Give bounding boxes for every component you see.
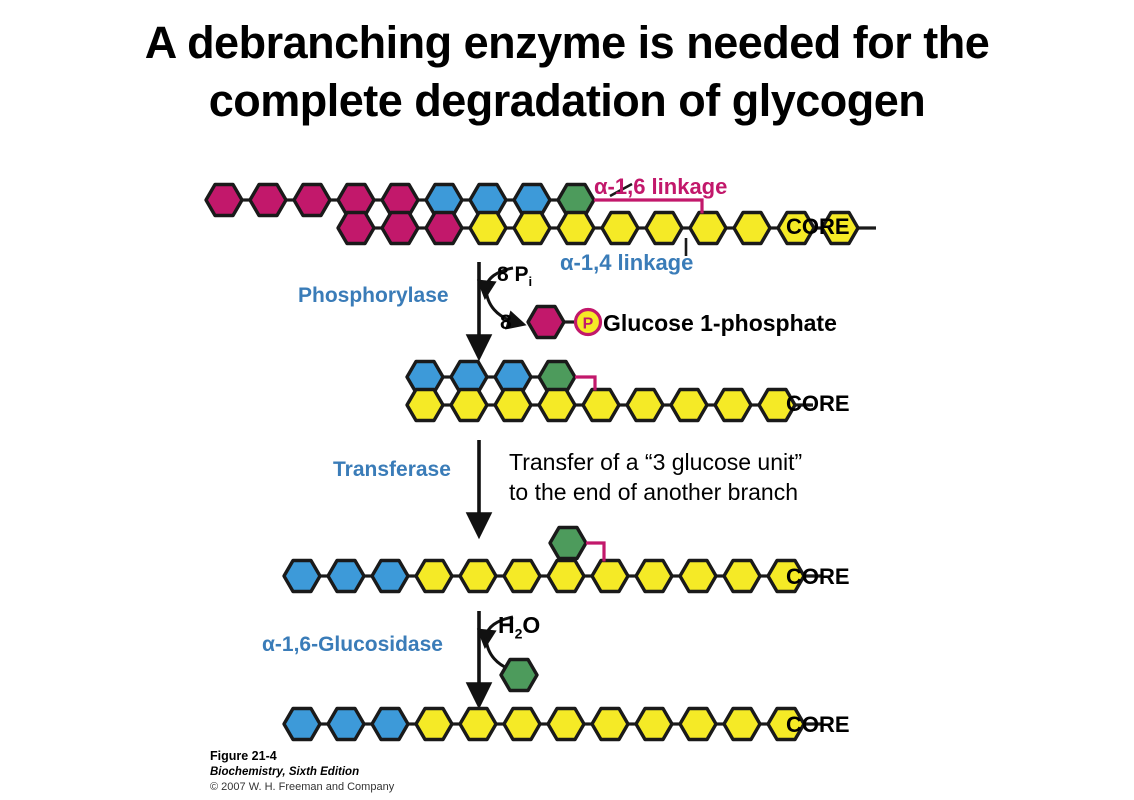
eight-pi-text: 8 P	[497, 263, 529, 286]
core-label-stage-4: CORE	[786, 712, 850, 738]
glucose-hexagon-blue-stage4-main-1	[328, 709, 364, 740]
transfer-note-line-2: to the end of another branch	[509, 479, 798, 506]
glucose-hexagon-yellow-stage3-main-3	[416, 561, 452, 592]
water-o: O	[522, 612, 540, 638]
enzyme-label-glucosidase: α-1,6-Glucosidase	[262, 633, 443, 657]
glucose-hexagon-magenta-g1p-residue	[528, 307, 564, 338]
glucose-hexagon-yellow-stage2-core-0	[407, 390, 443, 421]
glucose-hexagon-yellow-stage3-main-10	[724, 561, 760, 592]
glucose-hexagon-blue-stage3-main-1	[328, 561, 364, 592]
glucose-hexagon-yellow-stage3-main-6	[548, 561, 584, 592]
label-alpha-1-4-linkage: α-1,4 linkage	[560, 250, 693, 276]
glucose-hexagon-magenta-stage1-core-1	[382, 213, 418, 244]
glucose-hexagon-yellow-stage2-core-3	[539, 390, 575, 421]
copyright-notice: © 2007 W. H. Freeman and Company	[210, 780, 394, 795]
glucose-hexagon-yellow-stage2-core-4	[583, 390, 619, 421]
reactant-label-water: H2O	[498, 612, 540, 642]
core-label-stage-2: CORE	[786, 391, 850, 417]
glucose-hexagon-blue-stage3-main-2	[372, 561, 408, 592]
glucose-hexagon-yellow-stage1-core-7	[646, 213, 682, 244]
glycogen-pathway-diagram: P	[0, 0, 1134, 800]
glucose-hexagon-yellow-stage2-core-7	[715, 390, 751, 421]
glucose-hexagon-yellow-stage2-core-1	[451, 390, 487, 421]
glucose-hexagon-magenta-stage1-branch-1	[250, 185, 286, 216]
glucose-hexagon-yellow-stage2-core-5	[627, 390, 663, 421]
water-h: H	[498, 612, 515, 638]
phosphate-letter: P	[583, 316, 594, 333]
glucose-hexagon-magenta-stage1-branch-2	[294, 185, 330, 216]
figure-number: Figure 21-4	[210, 748, 394, 765]
figure-credit: Figure 21-4 Biochemistry, Sixth Edition …	[210, 748, 394, 794]
glucose-hexagon-blue-stage4-main-2	[372, 709, 408, 740]
glucose-hexagon-yellow-stage4-main-8	[636, 709, 672, 740]
transfer-note-line-1: Transfer of a “3 glucose unit”	[509, 449, 802, 476]
glucose-hexagon-yellow-stage1-core-4	[514, 213, 550, 244]
glucose-hexagon-yellow-stage3-main-4	[460, 561, 496, 592]
glucose-hexagon-blue-stage3-main-0	[284, 561, 320, 592]
product-count-8: 8	[500, 311, 512, 335]
product-label-glucose-1-phosphate: Glucose 1-phosphate	[603, 310, 837, 337]
glucose-hexagon-yellow-stage3-main-8	[636, 561, 672, 592]
reactant-label-8-pi: 8 Pi	[497, 263, 532, 289]
glucose-hexagon-yellow-stage4-main-6	[548, 709, 584, 740]
glucose-hexagon-blue-stage4-main-0	[284, 709, 320, 740]
glucose-hexagon-green-free-glucose-product	[501, 660, 537, 691]
glucose-hexagon-yellow-stage4-main-7	[592, 709, 628, 740]
glucose-hexagon-yellow-stage3-main-5	[504, 561, 540, 592]
glucose-hexagon-yellow-stage1-core-8	[690, 213, 726, 244]
pi-subscript: i	[529, 274, 533, 289]
enzyme-label-transferase: Transferase	[333, 458, 451, 482]
slide-canvas: A debranching enzyme is needed for the c…	[0, 0, 1134, 800]
glucose-hexagon-magenta-stage1-branch-0	[206, 185, 242, 216]
glucose-hexagon-yellow-stage1-core-6	[602, 213, 638, 244]
enzyme-label-phosphorylase: Phosphorylase	[298, 284, 449, 308]
core-label-stage-1: CORE	[786, 214, 850, 240]
glucose-hexagon-yellow-stage4-main-10	[724, 709, 760, 740]
glucose-hexagon-yellow-stage4-main-9	[680, 709, 716, 740]
glucose-hexagon-yellow-stage2-core-6	[671, 390, 707, 421]
glucose-hexagon-magenta-stage1-core-2	[426, 213, 462, 244]
glucose-hexagon-magenta-stage1-core-0	[338, 213, 374, 244]
glucose-hexagon-yellow-stage2-core-2	[495, 390, 531, 421]
glucose-hexagon-yellow-stage3-main-7	[592, 561, 628, 592]
glucose-hexagon-yellow-stage3-main-9	[680, 561, 716, 592]
glucose-hexagon-yellow-stage1-core-3	[470, 213, 506, 244]
label-alpha-1-6-linkage: α-1,6 linkage	[594, 174, 727, 200]
glucose-hexagon-yellow-stage4-main-4	[460, 709, 496, 740]
glucose-hexagon-green-stage3-branch-residue	[550, 528, 586, 559]
glucose-hexagon-yellow-stage4-main-5	[504, 709, 540, 740]
book-title: Biochemistry, Sixth Edition	[210, 765, 394, 780]
glucose-hexagon-yellow-stage4-main-3	[416, 709, 452, 740]
glucose-hexagon-yellow-stage1-core-9	[734, 213, 770, 244]
alpha-1-6-branch-link-stage3	[586, 543, 604, 562]
core-label-stage-3: CORE	[786, 564, 850, 590]
glucose-hexagon-yellow-stage1-core-5	[558, 213, 594, 244]
